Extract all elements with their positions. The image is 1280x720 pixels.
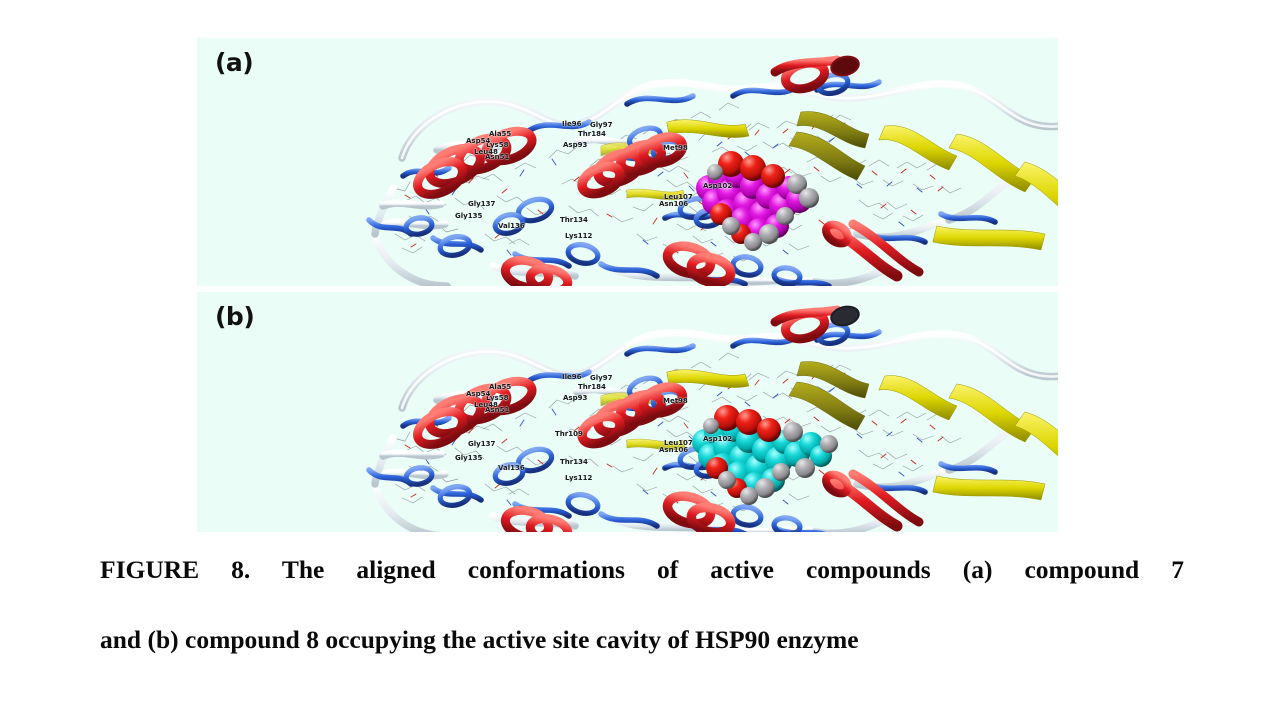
residue-label-ile96-b: Ile96 (562, 373, 582, 381)
residue-label-met98-b: Met98 (663, 397, 688, 405)
residue-label-ile96: Ile96 (562, 120, 582, 128)
panel-a-structure-svg (197, 38, 1058, 286)
figure-caption: FIGURE 8. The aligned conformations of a… (100, 552, 1184, 658)
residue-label-gly97-b: Gly97 (590, 374, 612, 382)
residue-label-ala55-b: Ala55 (489, 383, 511, 391)
residue-label-gly137: Gly137 (468, 200, 495, 208)
residue-label-val136-b: Val136 (498, 464, 525, 472)
residue-label-thr184: Thr184 (578, 130, 606, 138)
ligand-spheres-b (692, 405, 838, 505)
panel-a-label: (a) (215, 48, 253, 77)
residue-label-asn106-b: Asn106 (659, 446, 688, 454)
caption-line-1: FIGURE 8. The aligned conformations of a… (100, 552, 1184, 622)
residue-label-lys112-b: Lys112 (565, 474, 592, 482)
residue-label-asp102-b: Asp102 (703, 435, 732, 443)
panel-b-structure-svg (197, 292, 1058, 532)
ligand-spheres-a (696, 151, 819, 251)
panel-b-label: (b) (215, 302, 254, 331)
residue-label-thr184-b: Thr184 (578, 383, 606, 391)
residue-label-asp54-b: Asp54 (466, 390, 490, 398)
residue-label-asp93-b: Asp93 (563, 394, 587, 402)
panel-a-molecular-scene (197, 38, 1058, 286)
residue-label-gly135-b: Gly135 (455, 454, 482, 462)
residue-label-met98: Met98 (663, 144, 688, 152)
residue-label-asn51-b: Asn51 (485, 406, 509, 414)
residue-label-val136: Val136 (498, 222, 525, 230)
figure-panel-a: (a) (197, 38, 1058, 286)
caption-line-2: and (b) compound 8 occupying the active … (100, 622, 1184, 657)
residue-label-gly137-b: Gly137 (468, 440, 495, 448)
residue-label-asp54: Asp54 (466, 137, 490, 145)
residue-label-ala55: Ala55 (489, 130, 511, 138)
residue-label-gly135: Gly135 (455, 212, 482, 220)
residue-label-gly97: Gly97 (590, 121, 612, 129)
residue-label-lys112: Lys112 (565, 232, 592, 240)
residue-label-thr134: Thr134 (560, 216, 588, 224)
residue-label-asn51: Asn51 (485, 153, 509, 161)
figure-panel-b: (b) (197, 292, 1058, 532)
residue-label-asn106: Asn106 (659, 200, 688, 208)
residue-label-asp93: Asp93 (563, 141, 587, 149)
residue-label-thr134-b: Thr134 (560, 458, 588, 466)
residue-label-thr109-b: Thr109 (555, 430, 583, 438)
figure-container: (a) (0, 0, 1280, 720)
residue-label-asp102: Asp102 (703, 182, 732, 190)
panel-b-molecular-scene (197, 292, 1058, 532)
